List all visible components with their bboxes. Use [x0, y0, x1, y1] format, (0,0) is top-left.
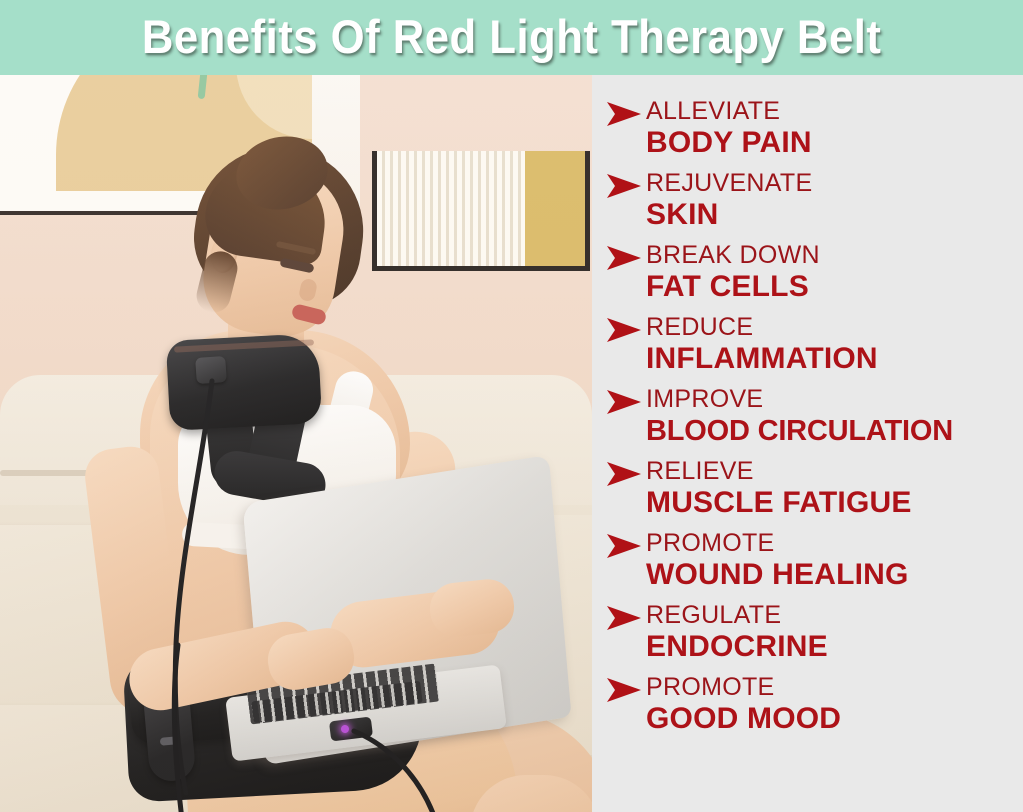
list-item: REJUVENATE SKIN: [606, 169, 1013, 232]
list-item: REGULATE ENDOCRINE: [606, 601, 1013, 664]
arrow-right-icon: [606, 97, 646, 127]
product-infographic-poster: Benefits Of Red Light Therapy Belt: [0, 0, 1023, 812]
list-item: RELIEVE MUSCLE FATIGUE: [606, 457, 1013, 520]
benefit-text: PROMOTE GOOD MOOD: [646, 673, 1013, 736]
benefit-verb: BREAK DOWN: [646, 241, 1013, 270]
benefit-noun: WOUND HEALING: [646, 558, 1013, 592]
benefit-verb: PROMOTE: [646, 673, 1013, 702]
benefit-text: BREAK DOWN FAT CELLS: [646, 241, 1013, 304]
benefit-noun: FAT CELLS: [646, 270, 1013, 304]
usb-power-cable: [300, 695, 560, 812]
list-item: ALLEVIATE BODY PAIN: [606, 97, 1013, 160]
benefit-verb: REGULATE: [646, 601, 1013, 630]
benefit-text: PROMOTE WOUND HEALING: [646, 529, 1013, 592]
benefit-noun: BODY PAIN: [646, 126, 1013, 160]
benefit-text: REDUCE INFLAMMATION: [646, 313, 1013, 376]
benefit-verb: PROMOTE: [646, 529, 1013, 558]
benefit-text: REGULATE ENDOCRINE: [646, 601, 1013, 664]
arrow-right-icon: [606, 241, 646, 271]
benefit-verb: RELIEVE: [646, 457, 1013, 486]
benefit-text: IMPROVE BLOOD CIRCULATION: [646, 385, 1013, 448]
list-item: BREAK DOWN FAT CELLS: [606, 241, 1013, 304]
art-vertical-stripes: [377, 151, 525, 271]
benefit-noun: INFLAMMATION: [646, 342, 1013, 376]
benefit-verb: IMPROVE: [646, 385, 1013, 414]
arrow-right-icon: [606, 529, 646, 559]
list-item: PROMOTE GOOD MOOD: [606, 673, 1013, 736]
arrow-right-icon: [606, 457, 646, 487]
benefit-verb: REJUVENATE: [646, 169, 1013, 198]
benefit-text: ALLEVIATE BODY PAIN: [646, 97, 1013, 160]
arrow-right-icon: [606, 313, 646, 343]
page-title: Benefits Of Red Light Therapy Belt: [142, 13, 882, 62]
benefit-verb: REDUCE: [646, 313, 1013, 342]
header-banner: Benefits Of Red Light Therapy Belt: [0, 0, 1023, 75]
list-item: PROMOTE WOUND HEALING: [606, 529, 1013, 592]
benefit-noun: ENDOCRINE: [646, 630, 1013, 664]
benefit-noun: MUSCLE FATIGUE: [646, 486, 1013, 520]
benefits-panel: ALLEVIATE BODY PAIN REJUVENATE SKIN: [592, 75, 1023, 812]
framed-art-stripes: [372, 151, 590, 271]
benefits-list: ALLEVIATE BODY PAIN REJUVENATE SKIN: [606, 97, 1013, 802]
benefit-noun: BLOOD CIRCULATION: [646, 414, 1013, 448]
product-lifestyle-photo: [0, 75, 592, 812]
list-item: IMPROVE BLOOD CIRCULATION: [606, 385, 1013, 448]
benefit-noun: SKIN: [646, 198, 1013, 232]
belt-to-laptop-cable: [120, 635, 240, 812]
benefit-text: RELIEVE MUSCLE FATIGUE: [646, 457, 1013, 520]
arrow-right-icon: [606, 385, 646, 415]
arrow-right-icon: [606, 169, 646, 199]
art-mustard-block: [525, 151, 590, 271]
benefit-noun: GOOD MOOD: [646, 702, 1013, 736]
arrow-right-icon: [606, 601, 646, 631]
benefit-verb: ALLEVIATE: [646, 97, 1013, 126]
list-item: REDUCE INFLAMMATION: [606, 313, 1013, 376]
arrow-right-icon: [606, 673, 646, 703]
benefit-text: REJUVENATE SKIN: [646, 169, 1013, 232]
